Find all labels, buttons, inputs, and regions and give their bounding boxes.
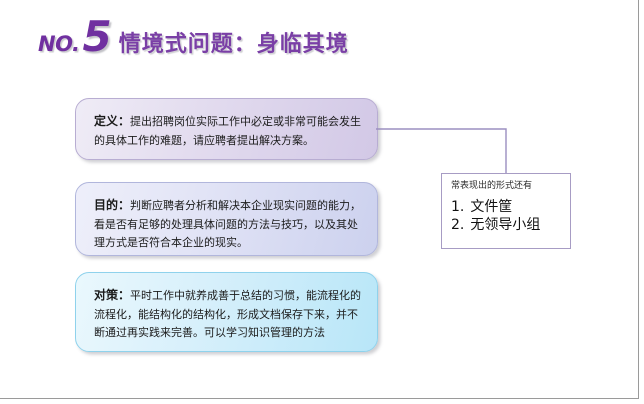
slide-canvas: NO. 5 情境式问题：身临其境 定义：提出招聘岗位实际工作中必定或非常可能会发… <box>0 0 639 399</box>
title-number: 5 <box>82 16 111 58</box>
title-no-prefix: NO. <box>38 32 79 56</box>
definition-box: 定义：提出招聘岗位实际工作中必定或非常可能会发生的具体工作的难题，请应聘者提出解… <box>75 98 378 160</box>
forms-list: 1. 文件筐 2. 无领导小组 <box>451 198 562 234</box>
list-item: 2. 无领导小组 <box>451 216 562 234</box>
forms-item-index: 1. <box>451 198 464 216</box>
title-main-text: 情境式问题：身临其境 <box>119 26 349 58</box>
slide-title: NO. 5 情境式问题：身临其境 <box>38 16 349 64</box>
purpose-label: 目的： <box>94 198 130 212</box>
purpose-box: 目的：判断应聘者分析和解决本企业现实问题的能力，看是否有足够的处理具体问题的方法… <box>75 182 378 256</box>
forms-item-label: 文件筐 <box>470 198 512 216</box>
list-item: 1. 文件筐 <box>451 198 562 216</box>
measure-body: 平时工作中就养成善于总结的习惯，能流程化的流程化，能结构化的结构化，形成文档保存… <box>94 289 361 339</box>
purpose-body: 判断应聘者分析和解决本企业现实问题的能力，看是否有足够的处理具体问题的方法与技巧… <box>94 199 361 249</box>
forms-item-index: 2. <box>451 216 464 234</box>
measure-label: 对策： <box>94 288 130 302</box>
forms-panel-caption: 常表现出的形式还有 <box>451 181 562 193</box>
forms-panel: 常表现出的形式还有 1. 文件筐 2. 无领导小组 <box>441 173 571 249</box>
elbow-connector-line <box>376 128 508 178</box>
measure-box: 对策：平时工作中就养成善于总结的习惯，能流程化的流程化，能结构化的结构化，形成文… <box>75 272 378 352</box>
definition-body: 提出招聘岗位实际工作中必定或非常可能会发生的具体工作的难题，请应聘者提出解决方案… <box>94 115 361 147</box>
definition-label: 定义： <box>94 114 130 128</box>
forms-item-label: 无领导小组 <box>470 216 540 234</box>
